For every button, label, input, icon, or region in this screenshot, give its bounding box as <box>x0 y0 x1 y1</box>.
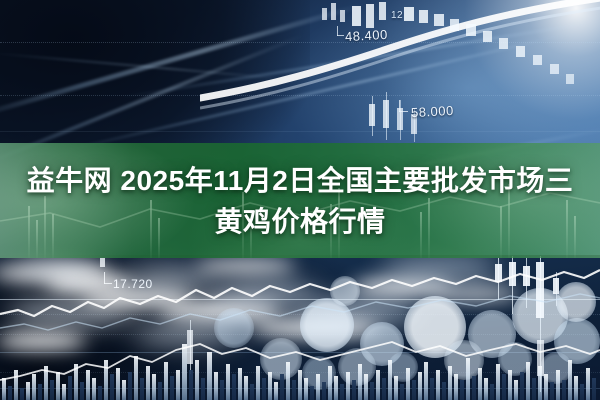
banner-image: 12 48.400 58.000 17.720 <box>0 0 600 400</box>
page-title-text: 益牛网 2025年11月2日全国主要批发市场三黄鸡价格行情 <box>27 165 574 237</box>
price-label-12: 12 <box>391 10 403 21</box>
page-title: 益牛网 2025年11月2日全国主要批发市场三黄鸡价格行情 <box>26 160 574 242</box>
price-label-48400: 48.400 <box>345 27 388 44</box>
chart-volume-line <box>0 330 600 386</box>
price-label-58000: 58.000 <box>411 103 454 120</box>
